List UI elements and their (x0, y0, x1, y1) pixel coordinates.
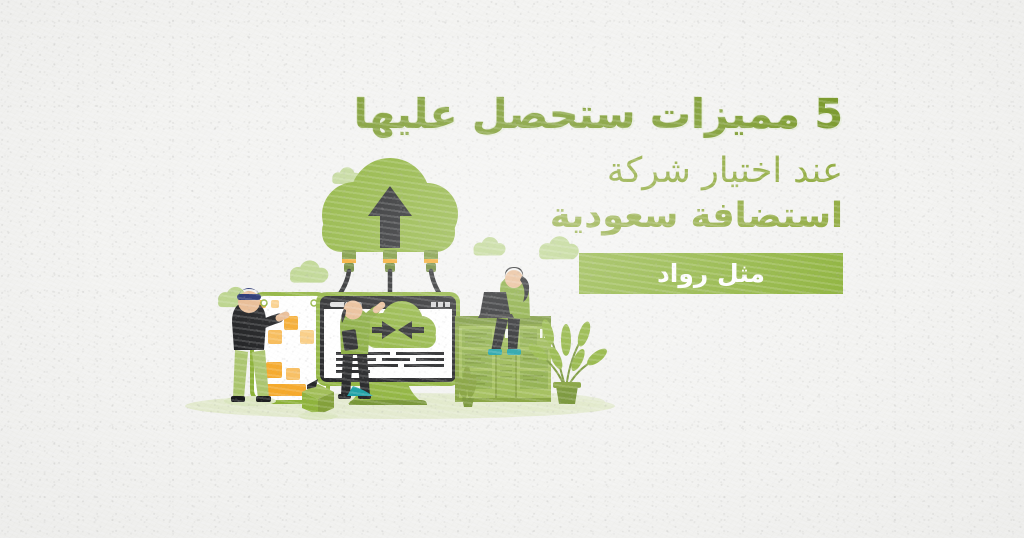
headline-line-3: استضافة سعودية (413, 195, 843, 238)
headline-line-2: عند اختيار شركة (413, 149, 843, 193)
browser-window-screen (316, 292, 460, 405)
banner-canvas: 5 مميزات ستحصل عليها عند اختيار شركة است… (0, 0, 1024, 538)
headline-line-1: 5 مميزات ستحصل عليها (413, 92, 843, 138)
headline-block: 5 مميزات ستحصل عليها عند اختيار شركة است… (413, 92, 843, 294)
brand-banner-button[interactable]: مثل رواد (579, 253, 843, 294)
